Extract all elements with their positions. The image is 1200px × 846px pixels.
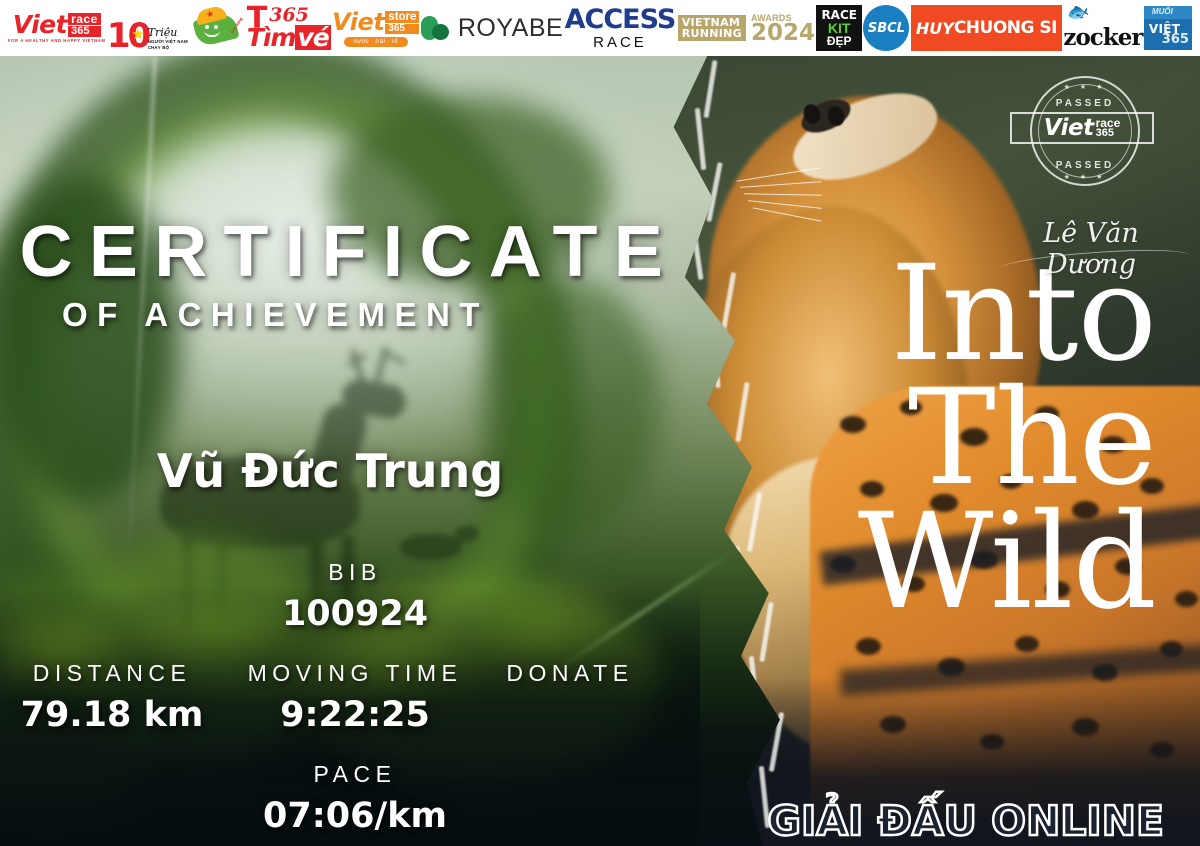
stamp-365-text: 365 — [1096, 128, 1121, 138]
stamp-brand-band: Viet race 365 — [1010, 112, 1154, 144]
sponsor-logo-bar: Viet race 365 FOR A HEALTHY AND HAPPY VI… — [0, 0, 1200, 56]
stat-bib: BIB 100924 — [215, 559, 495, 636]
royabe-logo: ROYABE — [421, 5, 563, 51]
timve-tim-text: Tìm — [247, 25, 296, 50]
vietrace365-race-text: race — [68, 13, 101, 25]
access-race-word: RACE — [593, 35, 647, 50]
royabe-leaf-icon — [421, 16, 451, 40]
vietrace365-logo: Viet race 365 FOR A HEALTHY AND HAPPY VI… — [8, 5, 105, 51]
stamp-passed-bottom-text: PASSED — [1044, 160, 1126, 171]
stamp-bottom-stars-icon: ★ ★ ★ — [1060, 173, 1110, 181]
rkd-kit-word: KIT — [828, 21, 851, 35]
zocker-logo: 🐟 zocker — [1063, 5, 1142, 51]
stat-distance: DISTANCE 79.18 km — [0, 660, 232, 737]
stamp-passed-top-text: PASSED — [1044, 98, 1126, 109]
stamp-top-stars-icon: ★ ★ ★ — [1060, 83, 1110, 91]
awards-year: 2024 — [751, 23, 815, 44]
fish-icon: 🐟 — [1065, 0, 1091, 25]
muoi-viet-365-logo: MUỐI VIỆT 365 — [1144, 6, 1192, 50]
zocker-wordmark: zocker — [1063, 24, 1142, 51]
huy-chuong-si-logo: HUY CHUONG SI — [911, 5, 1062, 51]
signature: Lê Văn Dương — [996, 218, 1186, 280]
10-trieu-nguoi-viet-nam-chay-bo-logo: 10 ★ Triệu NGƯỜI VIỆT NAM CHẠY BỘ — [107, 5, 188, 51]
stat-pace-label: PACE — [215, 761, 495, 787]
athlete-name: Vũ Đức Trung — [0, 443, 660, 499]
stat-distance-value: 79.18 km — [0, 693, 232, 737]
page-title: CERTIFICATE — [20, 216, 680, 288]
passed-stamp: ★ ★ ★ PASSED PASSED ★ ★ ★ Viet race 365 — [1008, 74, 1188, 204]
muoi-viet-365-number: 365 — [1162, 32, 1189, 47]
running-word: RUNNING — [682, 28, 742, 39]
royabe-wordmark: ROYABE — [458, 14, 563, 43]
vietrace365-viet-text: Viet — [13, 12, 67, 37]
certificate-page: Viet race 365 FOR A HEALTHY AND HAPPY VI… — [0, 0, 1200, 846]
rkd-dep-word: ĐẸP — [827, 35, 852, 47]
stat-moving-time-value: 9:22:25 — [215, 693, 495, 737]
page-subtitle: OF ACHIEVEMENT — [62, 297, 489, 333]
stat-pace-value: 07:06/km — [215, 794, 495, 838]
access-wordmark: ACCESS — [565, 6, 676, 33]
vietrace365-365-text: 365 — [68, 26, 101, 37]
event-title: Into The Wild — [736, 252, 1156, 624]
vietnam-running-awards-logo: VIETNAM RUNNING AWARDS 2024 — [677, 5, 815, 51]
vietstore365-logo: Viet store 365 nước · trái · rẻ — [332, 5, 419, 51]
stat-donate-label: DONATE — [450, 660, 690, 686]
stat-pace: PACE 07:06/km — [215, 761, 495, 838]
event-title-line-3: Wild — [736, 500, 1156, 624]
stat-bib-value: 100924 — [215, 592, 495, 636]
trieu-script-text: Triệu — [148, 26, 188, 39]
vietstore-viet-text: Viet — [332, 10, 384, 34]
stat-bib-label: BIB — [215, 559, 495, 585]
event-subtitle: GIẢI ĐẤU ONLINE — [767, 798, 1164, 844]
vietstore-pill-tagline: nước · trái · rẻ — [344, 37, 409, 47]
chay-bo-text: CHẠY BỘ — [148, 45, 188, 50]
sbcl-wordmark: SBCL — [868, 21, 905, 36]
race-kit-dep-logo: RACE KIT ĐẸP — [816, 5, 862, 51]
vietstore-365-text: 365 — [385, 24, 419, 34]
timve-ve-text: vé — [295, 25, 330, 50]
chuong-si-word: CHUONG SI — [954, 18, 1057, 38]
timve365-logo: T 365 Tìm vé — [247, 5, 331, 51]
stat-distance-label: DISTANCE — [0, 660, 232, 686]
vietrace365-tagline: FOR A HEALTHY AND HAPPY VIETNAM — [8, 39, 105, 43]
huy-word: HUY — [916, 19, 954, 38]
stamp-viet-text: Viet — [1044, 115, 1094, 141]
star-icon: ★ — [131, 25, 144, 43]
certificate-canvas: CERTIFICATE OF ACHIEVEMENT Vũ Đức Trung … — [0, 56, 1200, 846]
vietnam-running-badge: VIETNAM RUNNING — [677, 14, 747, 42]
event-title-line-2: The — [736, 376, 1156, 500]
sbcl-logo: SBCL — [863, 5, 909, 51]
smiley-leaf-logo: ★ Ánh Sáng — [189, 6, 245, 50]
stat-donate: DONATE — [450, 660, 690, 693]
access-race-logo: ACCESS RACE — [565, 5, 676, 51]
muoi-word: MUỐI — [1152, 7, 1173, 16]
vietstore-store-text: store — [385, 11, 419, 23]
